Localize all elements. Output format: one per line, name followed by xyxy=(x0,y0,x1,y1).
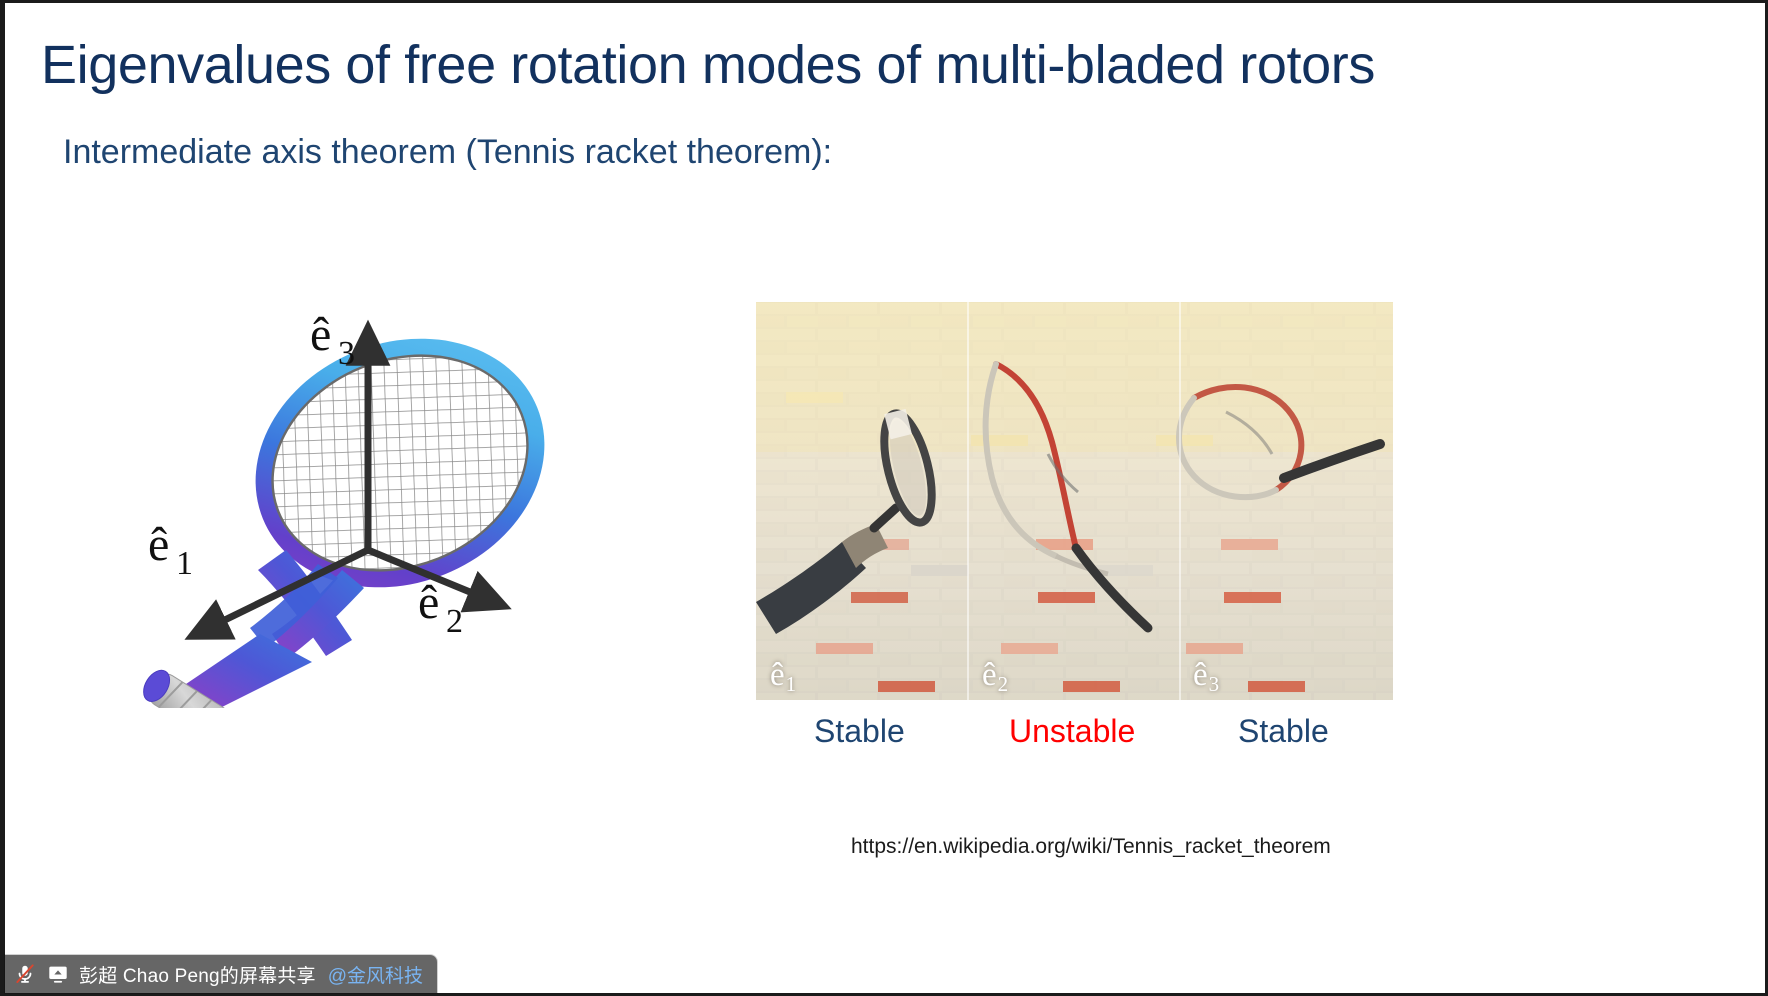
caption-stable-e3: Stable xyxy=(1238,713,1329,750)
screen-share-org-label: @金风科技 xyxy=(328,961,423,988)
screen-share-status-bar[interactable]: 彭超 Chao Peng的屏幕共享 @金风科技 xyxy=(5,955,437,993)
caption-stable-e1: Stable xyxy=(814,713,905,750)
svg-text:3: 3 xyxy=(338,335,355,372)
svg-text:ê: ê xyxy=(418,576,439,629)
photo-axis-label-e2: ê2 xyxy=(982,657,1007,694)
screen-share-icon[interactable] xyxy=(46,962,70,986)
presentation-slide: Eigenvalues of free rotation modes of mu… xyxy=(0,0,1768,996)
screen-share-owner-label: 彭超 Chao Peng的屏幕共享 xyxy=(79,961,316,988)
panel-divider-2 xyxy=(1179,302,1181,700)
caption-unstable-e2: Unstable xyxy=(1009,713,1135,750)
source-url-text: https://en.wikipedia.org/wiki/Tennis_rac… xyxy=(851,835,1331,859)
axis-label-e3: ê 3 xyxy=(310,308,355,372)
svg-text:2: 2 xyxy=(446,603,463,640)
tennis-racket-axes-diagram: ê 3 ê 2 ê 1 xyxy=(100,288,630,708)
stability-caption-row: Stable Unstable Stable xyxy=(756,713,1393,759)
panel-divider-1 xyxy=(967,302,969,700)
svg-text:ê: ê xyxy=(148,518,169,571)
microphone-muted-icon[interactable] xyxy=(13,962,37,986)
svg-text:ê: ê xyxy=(310,308,331,361)
axis-label-e1: ê 1 xyxy=(148,518,193,582)
photo-axis-label-e1: ê1 xyxy=(770,657,795,694)
photo-axis-label-e3: ê3 xyxy=(1193,657,1218,694)
tennis-racket-theorem-photo: ê1 ê2 ê3 xyxy=(756,302,1393,700)
photo-frame: ê1 ê2 ê3 xyxy=(756,302,1393,700)
slide-title: Eigenvalues of free rotation modes of mu… xyxy=(41,35,1721,95)
slide-subtitle: Intermediate axis theorem (Tennis racket… xyxy=(63,133,832,172)
svg-text:1: 1 xyxy=(176,545,193,582)
